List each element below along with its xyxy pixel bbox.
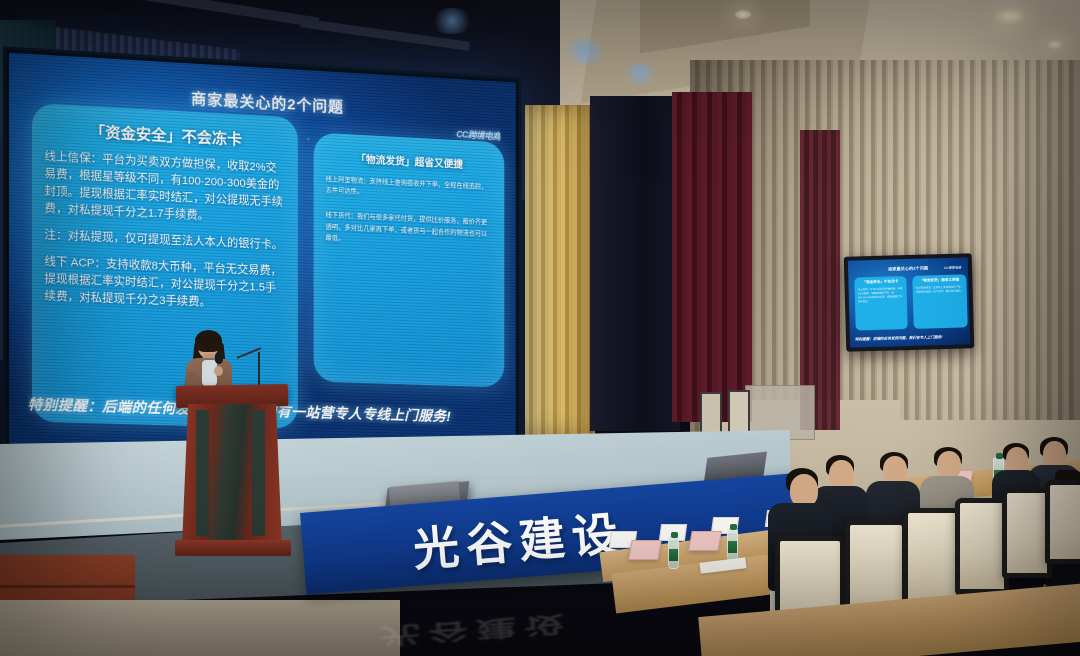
stage-light-glow (620, 62, 660, 84)
side-monitor-card-left-title: 「资金安全」不会冻卡 (857, 279, 903, 285)
name-card (688, 531, 722, 551)
stage-light-glow (430, 8, 474, 34)
side-monitor: 商家最关心的2个问题 CC跨境电商 「资金安全」不会冻卡 线上信保：平台为买卖双… (844, 253, 975, 352)
water-bottle (668, 536, 679, 569)
card-title-funds-safety: 「资金安全」不会冻卡 (44, 118, 286, 152)
step-edge (0, 585, 135, 588)
side-monitor-card-left: 「资金安全」不会冻卡 线上信保：平台为买卖双方做担保，收取2%交易费，根据星等级… (854, 276, 907, 330)
audience-chair[interactable] (1045, 480, 1080, 564)
maroon-curtain (672, 92, 752, 422)
downlight-icon (995, 8, 1025, 24)
backstage-chair (728, 390, 750, 435)
bottle-label (669, 549, 678, 561)
side-monitor-footer: 特别提醒：后端的任何发货问题，我们有专人上门服务! (855, 335, 943, 342)
name-card (628, 540, 662, 560)
paragraph: 线上信保：平台为买卖双方做担保，收取2%交易费，根据星等级不同，有100·200… (44, 149, 286, 229)
card-body-funds-safety: 线上信保：平台为买卖双方做担保，收取2%交易费，根据星等级不同，有100·200… (44, 149, 286, 315)
podium-panel-right (252, 410, 265, 536)
water-bottle (727, 528, 738, 561)
stage-banner-text: 光谷建设 (410, 497, 627, 580)
podium-panel-left (196, 410, 209, 536)
side-monitor-screen: 商家最关心的2个问题 CC跨境电商 「资金安全」不会冻卡 线上信保：平台为买卖双… (848, 257, 970, 347)
slide-card-logistics: 「物流发货」超省又便捷 线上阿里物流：支持线上查询揽收并下单，全程在线追踪，五件… (314, 132, 505, 387)
microphone-icon (215, 352, 223, 364)
gold-curtain (525, 105, 595, 435)
podium-base (175, 540, 291, 556)
card-title-logistics: 「物流发货」超省又便捷 (326, 149, 493, 172)
person-head (937, 451, 961, 479)
hall-floor (0, 600, 400, 656)
side-monitor-card-right: 「物流发货」超省又便捷 线上阿里物流：支持线上查询揽收并下单，全程在线追踪。线下… (912, 274, 967, 328)
downlight-icon (1047, 40, 1063, 49)
side-monitor-card-left-body: 线上信保：平台为买卖双方做担保，收取2%交易费，根据星等级不同，有100·200… (858, 287, 904, 304)
paragraph: 线下货代：我们与很多家代付货，提供比价服务，报价齐更透明，多对比几家再下单，或者… (326, 210, 493, 251)
bottle-cap (730, 524, 737, 530)
side-monitor-card-right-body: 线上阿里物流：支持线上查询揽收并下单，全程在线追踪。线下货代：提供比价服务。 (916, 285, 964, 294)
side-monitor-title: 商家最关心的2个问题 (888, 265, 928, 272)
card-body-logistics: 线上阿里物流：支持线上查询揽收并下单，全程在线追踪，五件可达性。 线下货代：我们… (326, 174, 493, 251)
side-monitor-card-right-title: 「物流发货」超省又便捷 (915, 277, 963, 283)
dark-curtain (590, 96, 680, 431)
bottle-cap (671, 532, 678, 538)
paragraph: 线上阿里物流：支持线上查询揽收并下单，全程在线追踪，五件可达性。 (326, 174, 493, 204)
bottle-cap (996, 453, 1003, 459)
audience-chair[interactable] (955, 498, 1009, 594)
conference-hall-scene: 商家最关心的2个问题 CC跨境电商 「资金安全」不会冻卡 线上信保：平台为买卖双… (0, 0, 1080, 656)
bottle-label (728, 541, 737, 553)
paragraph: 线下 ACP：支持收款8大币种，平台无交易费，提现根据汇率实时结汇，对公提现千分… (44, 254, 286, 315)
person-head (1043, 441, 1066, 468)
speaker-hand (214, 366, 223, 376)
backstage-chair (700, 392, 722, 434)
stage-light-glow (560, 38, 610, 64)
paragraph: 注：对私提现，仅可提现至法人本人的银行卡。 (44, 227, 286, 255)
speaker-hair (195, 330, 222, 352)
person-head (883, 456, 907, 484)
person-head (829, 460, 854, 489)
side-monitor-logo: CC跨境电商 (944, 265, 961, 270)
downlight-icon (735, 10, 751, 19)
